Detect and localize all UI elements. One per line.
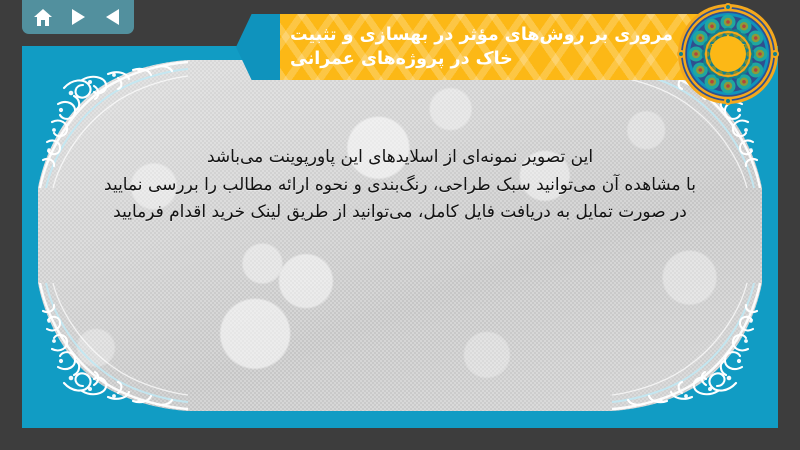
slide-content-panel: این تصویر نمونه‌ای از اسلایدهای این پاور… [38,60,762,411]
slide-frame: این تصویر نمونه‌ای از اسلایدهای این پاور… [22,46,778,428]
slide-navigation-bar [22,0,134,34]
page-title-line-2: خاک در پروژه‌های عمرانی [290,47,513,71]
home-icon [33,8,53,27]
banner-gold-body: مروری بر روش‌های مؤثر در بهسازی و تثبیت … [280,14,736,80]
triangle-right-icon [70,8,86,26]
next-slide-button[interactable] [63,4,93,30]
body-line: در صورت تمایل به دریافت فایل کامل، می‌تو… [38,199,762,227]
body-line: با مشاهده آن می‌توانید سبک طراحی، رنگ‌بن… [38,172,762,200]
presentation-viewer: این تصویر نمونه‌ای از اسلایدهای این پاور… [0,0,800,450]
body-line: این تصویر نمونه‌ای از اسلایدهای این پاور… [38,144,762,172]
triangle-left-icon [105,8,121,26]
home-button[interactable] [28,4,58,30]
slide-background-texture [38,60,762,411]
arabesque-corner-ornament [612,283,762,411]
previous-slide-button[interactable] [98,4,128,30]
slide-body-text: این تصویر نمونه‌ای از اسلایدهای این پاور… [38,144,762,227]
arabesque-corner-ornament [38,283,188,411]
page-title-line-1: مروری بر روش‌های مؤثر در بهسازی و تثبیت [290,23,673,47]
slide-title-banner: مروری بر روش‌های مؤثر در بهسازی و تثبیت … [236,14,736,80]
